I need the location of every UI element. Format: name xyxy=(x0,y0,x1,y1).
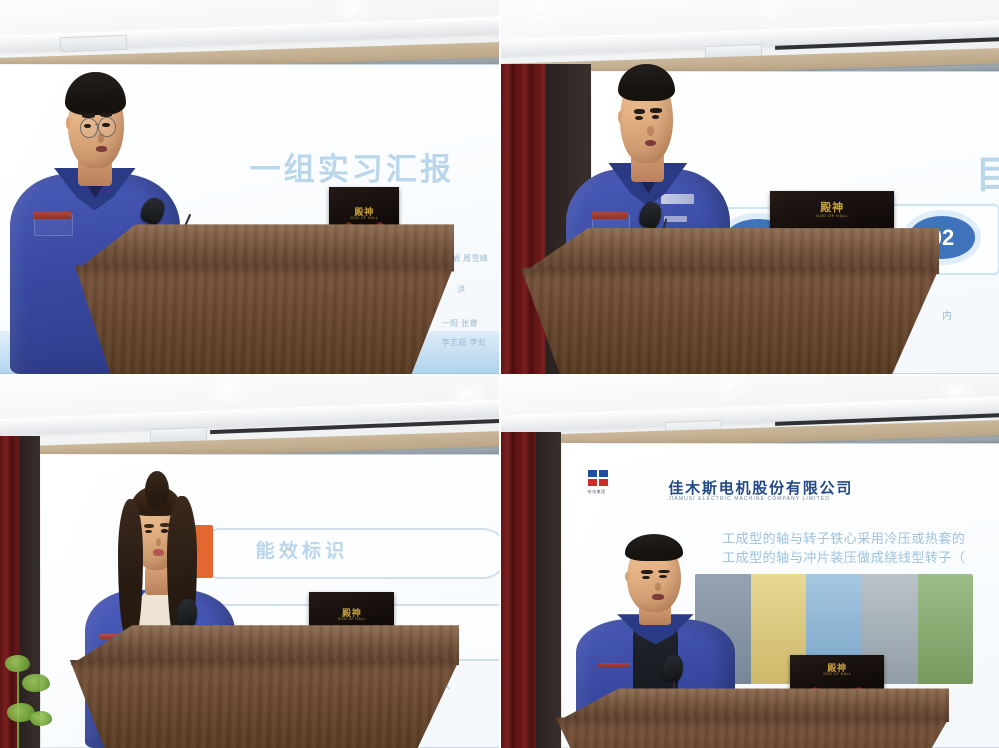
downlight-icon xyxy=(949,387,967,397)
hair xyxy=(625,534,683,560)
mouth xyxy=(652,594,664,599)
hair-long-left xyxy=(118,499,143,635)
uniform-pocket-flap xyxy=(34,212,71,219)
slide-body-line-2: 工成型的轴与冲片装压做成绕线型转子（ xyxy=(722,547,965,566)
speaker-head xyxy=(620,70,673,163)
podium xyxy=(75,224,454,374)
wood-grain xyxy=(70,660,459,748)
eyebrow-left xyxy=(641,570,653,574)
eyebrow-left xyxy=(144,524,154,528)
company-logo-icon: 哈电集团 xyxy=(588,470,608,495)
slide-credit-line-1: 娟 周雪峰 xyxy=(452,253,489,264)
wood-grain xyxy=(521,268,939,374)
glasses-lens-left xyxy=(80,118,98,138)
plant-leaf-icon xyxy=(22,674,49,693)
photo-panel-bottom-right: 哈电集团 佳木斯电机股份有限公司 JIAMUSI ELECTRIC MACHIN… xyxy=(501,376,999,748)
downlight-icon xyxy=(531,6,548,15)
wood-grain xyxy=(556,717,949,748)
podium-top-surface xyxy=(75,224,454,271)
eyebrow-right xyxy=(650,108,662,113)
photo-panel-top-left: 一组实习汇报 娟 周雪峰 洪 一阳 张睿 李志超 李虹 xyxy=(0,0,499,374)
nameplate-en-text: GOD OF HALL xyxy=(816,214,848,218)
logo-row-bottom xyxy=(588,479,608,486)
glasses-bridge xyxy=(95,124,99,125)
company-name-en: JIAMUSI ELECTRIC MACHINE COMPANY LIMITED xyxy=(668,496,830,502)
wood-grain xyxy=(70,625,459,665)
nameplate-en-text: GOD OF HALL xyxy=(823,673,851,677)
downlight-icon xyxy=(220,387,238,397)
logo-chip-red xyxy=(588,479,597,486)
hair xyxy=(65,72,125,116)
eye-left xyxy=(642,576,650,579)
podium xyxy=(70,625,459,748)
nameplate-en-text: GOD OF HALL xyxy=(338,618,366,622)
ear-icon xyxy=(66,117,70,129)
eye-right xyxy=(659,575,667,578)
dark-wall-strip xyxy=(20,436,40,748)
nose xyxy=(156,538,161,546)
photo-panel-bottom-left: 1 能效标识 标识管理中心 YFBX xyxy=(0,376,499,748)
uniform-pocket-flap xyxy=(598,663,630,667)
podium-front-face xyxy=(75,265,454,374)
uniform-pocket-flap xyxy=(592,212,628,219)
eye-left xyxy=(635,116,643,120)
eye-right xyxy=(102,123,109,127)
speaker-head xyxy=(68,77,124,168)
logo-chip-blue xyxy=(599,470,608,477)
eye-left xyxy=(145,530,152,533)
nose xyxy=(655,583,662,590)
nose xyxy=(647,126,653,136)
podium-front-face xyxy=(521,268,939,374)
mouth xyxy=(153,549,164,555)
stage-curtain xyxy=(501,432,536,748)
mouth xyxy=(96,146,107,151)
podium xyxy=(521,228,939,374)
logo-row-top xyxy=(588,470,608,477)
logo-caption-text: 哈电集团 xyxy=(588,489,608,495)
nameplate-en-text: GOD OF HALL xyxy=(350,217,378,221)
chest-logo-patch xyxy=(661,194,694,204)
ear-icon xyxy=(625,572,629,582)
ear-icon xyxy=(618,111,622,123)
slide-credit-line-2: 洪 xyxy=(457,284,465,295)
logo-chip-red xyxy=(599,479,608,486)
plant-leaf-icon xyxy=(30,711,52,726)
wood-grain xyxy=(75,265,454,374)
photo-collage: 一组实习汇报 娟 周雪峰 洪 一阳 张睿 李志超 李虹 xyxy=(0,0,999,748)
podium-front-face xyxy=(556,717,949,748)
photo-panel-top-right: 目 01 02 内 xyxy=(501,0,999,374)
eye-right xyxy=(161,529,168,532)
podium-front-face xyxy=(70,660,459,748)
ceiling-vent xyxy=(60,34,127,51)
podium xyxy=(556,688,949,748)
podium-top-surface xyxy=(70,625,459,665)
downlight-icon xyxy=(459,391,477,401)
wood-grain xyxy=(556,688,949,721)
podium-top-surface xyxy=(521,228,939,274)
slide-title: 目 xyxy=(976,144,999,199)
strip-photo-5 xyxy=(918,574,974,684)
hair-ponytail xyxy=(145,471,169,511)
speaker-head xyxy=(627,539,681,612)
company-name-cn: 佳木斯电机股份有限公司 xyxy=(668,477,853,498)
plant-leaf-icon xyxy=(5,655,30,672)
slide-body-line-1: 工成型的轴与转子铁心采用冷压或热套的 xyxy=(722,528,965,547)
section-title-1: 能效标识 xyxy=(256,536,349,563)
wood-grain xyxy=(75,224,454,271)
chest-name-strip xyxy=(664,216,687,222)
eye-right xyxy=(652,115,660,119)
eye-left xyxy=(84,124,91,128)
eyebrow-left xyxy=(634,109,646,114)
nose xyxy=(98,133,104,142)
hair xyxy=(618,64,675,101)
eyebrow-right xyxy=(658,570,670,574)
slide-title: 一组实习汇报 xyxy=(250,144,455,189)
logo-chip-blue xyxy=(588,470,597,477)
podium-top-surface xyxy=(556,688,949,721)
wood-grain xyxy=(521,228,939,274)
mouth xyxy=(645,140,657,147)
slide-footnote: 内 xyxy=(942,307,953,322)
